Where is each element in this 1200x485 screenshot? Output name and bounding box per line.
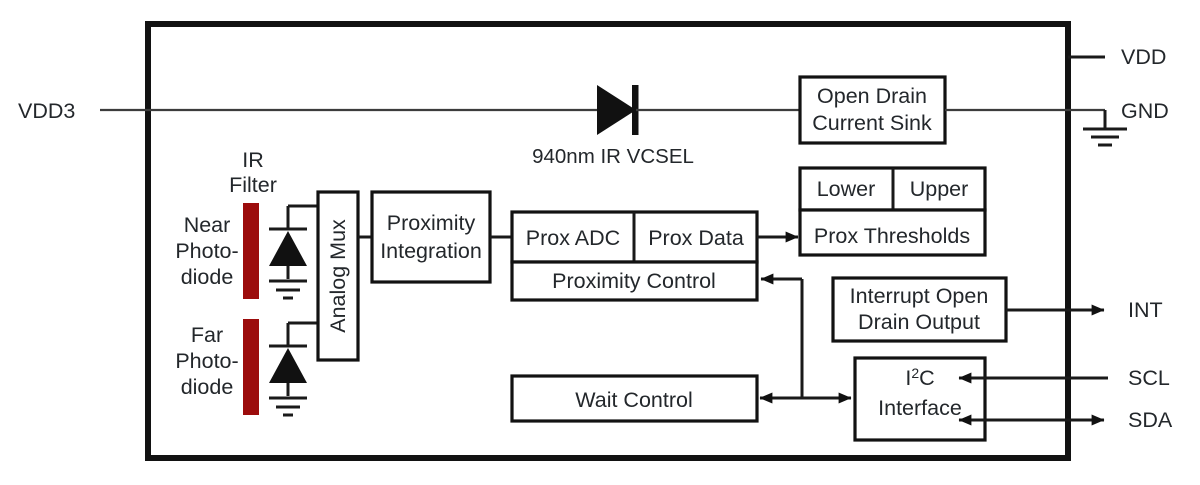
proximity-integration-line1: Proximity <box>387 211 476 235</box>
proximity-integration-line2: Integration <box>380 239 482 263</box>
ir-filter-near <box>243 203 259 299</box>
analog-mux-label: Analog Mux <box>326 219 350 333</box>
pin-label-sda: SDA <box>1128 408 1173 432</box>
interrupt-open-drain-line1: Interrupt Open <box>850 284 989 308</box>
pin-label-vdd3: VDD3 <box>18 99 75 123</box>
pin-label-vdd: VDD <box>1121 45 1166 69</box>
vcsel-label: 940nm IR VCSEL <box>532 145 694 168</box>
near-photodiode-label-line2: Photo- <box>175 239 238 263</box>
ir-filter-far <box>243 319 259 415</box>
near-photodiode-label-line3: diode <box>181 265 234 289</box>
i2c-label-superscript-2: 2 <box>911 365 919 381</box>
i2c-interface-line2: Interface <box>878 396 962 420</box>
block-proximity-integration <box>372 192 490 282</box>
open-drain-current-sink-line2: Current Sink <box>812 111 932 135</box>
pin-label-gnd: GND <box>1121 99 1169 123</box>
wait-control-label: Wait Control <box>575 388 692 412</box>
pin-label-scl: SCL <box>1128 366 1170 390</box>
pin-label-int: INT <box>1128 298 1163 322</box>
near-photodiode-label-line1: Near <box>184 213 231 237</box>
threshold-lower-label: Lower <box>817 177 876 201</box>
threshold-upper-label: Upper <box>910 177 969 201</box>
block-diagram-canvas: VDD3 940nm IR VCSEL Open Drain Current S… <box>0 0 1200 485</box>
prox-data-label: Prox Data <box>648 226 744 250</box>
prox-adc-label: Prox ADC <box>526 226 620 250</box>
far-photodiode-label-line3: diode <box>181 375 234 399</box>
open-drain-current-sink-line1: Open Drain <box>817 84 927 108</box>
proximity-control-label: Proximity Control <box>552 269 716 293</box>
i2c-label-c: C <box>919 366 935 390</box>
far-photodiode-label-line1: Far <box>191 323 223 347</box>
far-photodiode-label-line2: Photo- <box>175 349 238 373</box>
ir-filter-label-line1: IR <box>242 148 264 172</box>
i2c-interface-line1: I2C <box>905 365 934 390</box>
vcsel-diode-symbol <box>597 85 639 135</box>
ir-filter-label-line2: Filter <box>229 173 277 197</box>
prox-thresholds-label: Prox Thresholds <box>814 224 970 248</box>
interrupt-open-drain-line2: Drain Output <box>858 310 980 334</box>
proximity-sensor-block-diagram: VDD3 940nm IR VCSEL Open Drain Current S… <box>0 0 1200 485</box>
